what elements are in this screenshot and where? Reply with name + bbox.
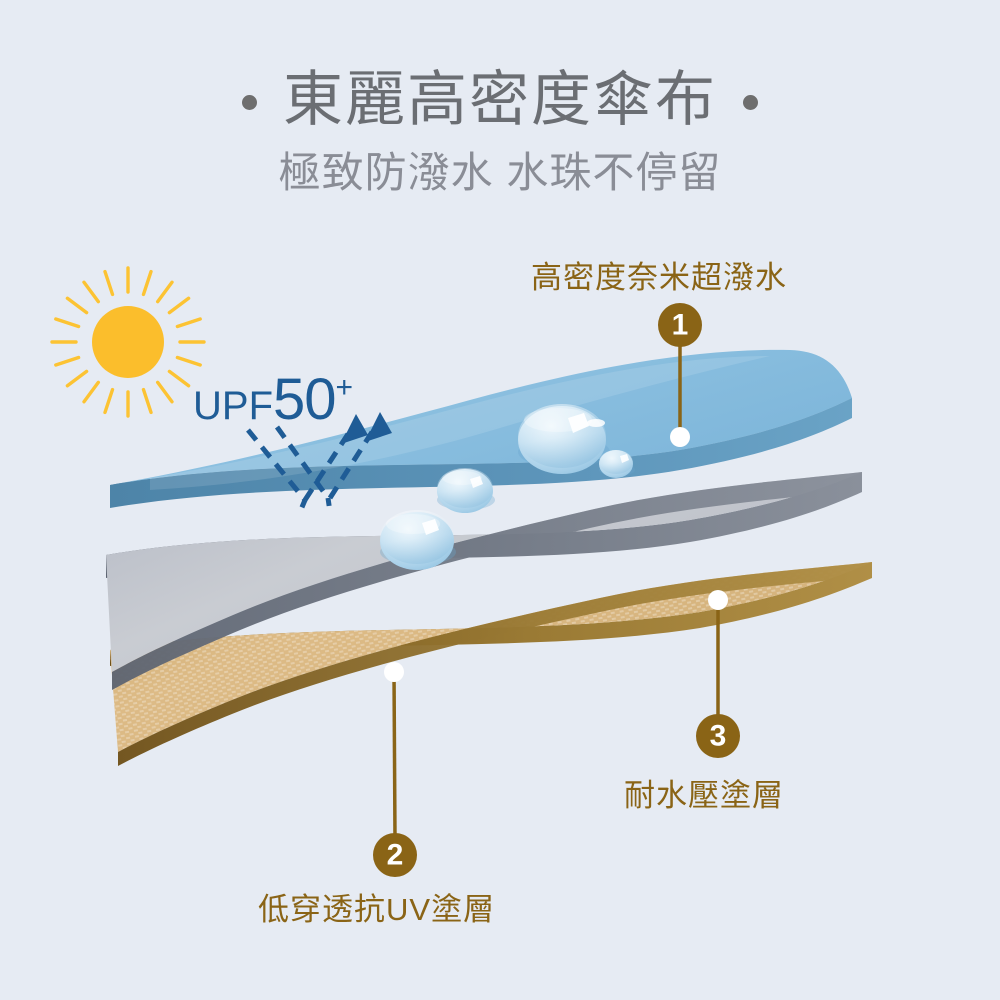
- uv-bounce-kink-2: [328, 498, 330, 512]
- upf-plus-sign: +: [336, 371, 354, 404]
- callout-badge-1[interactable]: 1: [658, 303, 702, 347]
- upf-rating-badge: UPF50+: [193, 366, 353, 433]
- diagram-svg: 1 2 3: [0, 0, 1000, 1000]
- callout-2-anchor-dot: [384, 662, 404, 682]
- infographic-canvas: 東麗高密度傘布 極致防潑水 水珠不停留: [0, 0, 1000, 1000]
- sun-icon: [52, 268, 204, 416]
- sun-disc: [92, 306, 164, 378]
- callout-1-label: 高密度奈米超潑水: [531, 252, 787, 297]
- callout-badge-2-number: 2: [387, 839, 404, 872]
- callout-2-leader-line: [394, 672, 395, 838]
- callout-3-label: 耐水壓塗層: [624, 770, 784, 815]
- water-droplet-medium: [380, 510, 456, 570]
- callout-badge-3[interactable]: 3: [696, 714, 740, 758]
- upf-label: UPF: [193, 384, 273, 428]
- callout-badge-3-number: 3: [710, 720, 727, 753]
- callout-badge-2[interactable]: 2: [373, 833, 417, 877]
- fabric-layers-diagram: 1 2 3: [0, 0, 1000, 1000]
- callout-badge-1-number: 1: [672, 309, 689, 342]
- callout-2-label: 低穿透抗UV塗層: [258, 884, 495, 929]
- callout-1-anchor-dot: [670, 427, 690, 447]
- upf-value: 50: [273, 367, 336, 432]
- uv-bounce-kink-1: [300, 500, 305, 512]
- callout-3-anchor-dot: [708, 590, 728, 610]
